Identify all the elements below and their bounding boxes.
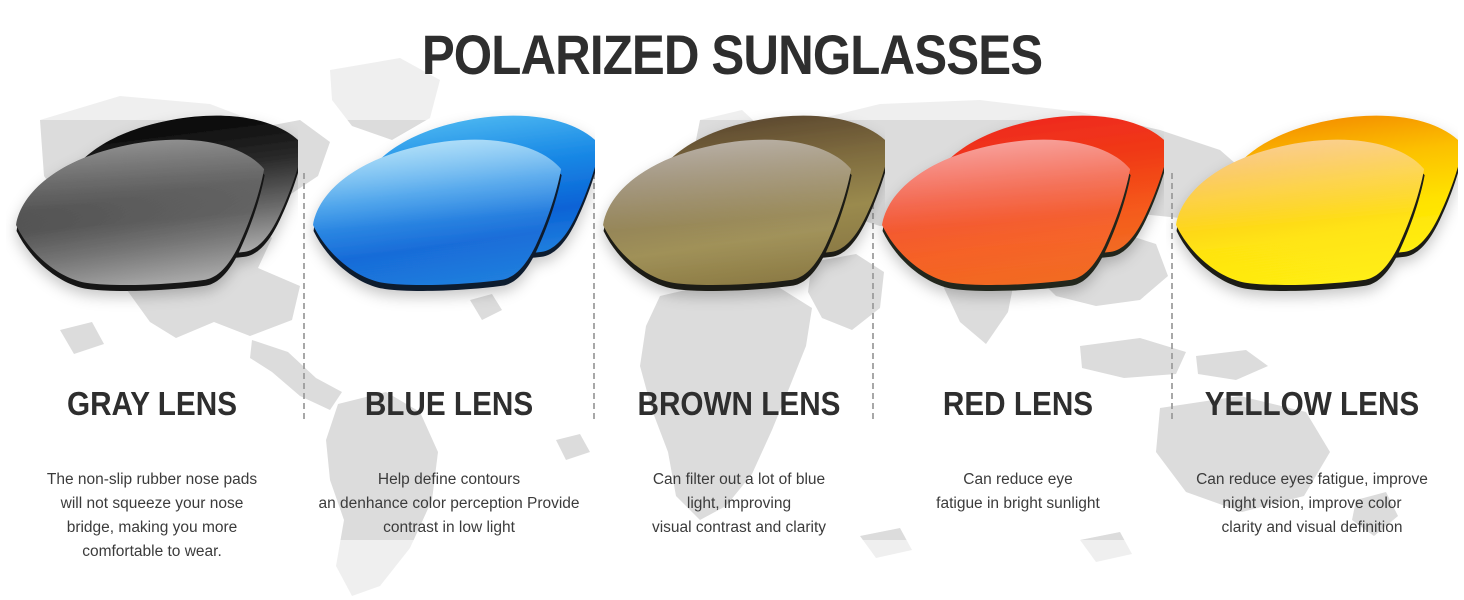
- lens-column-yellow: YELLOW LENS Can reduce eyes fatigue, imp…: [1166, 110, 1458, 590]
- desc-line: Can filter out a lot of blue: [587, 468, 891, 492]
- lens-label-red: RED LENS: [887, 385, 1150, 423]
- desc-line: Help define contours: [297, 468, 601, 492]
- lens-description-red: Can reduce eye fatigue in bright sunligh…: [866, 468, 1170, 516]
- lens-image-red: [872, 110, 1164, 320]
- desc-line: bridge, making you more: [0, 516, 304, 540]
- lens-description-yellow: Can reduce eyes fatigue, improve night v…: [1160, 468, 1464, 540]
- lens-column-brown: BROWN LENS Can filter out a lot of blue …: [593, 110, 885, 590]
- lens-label-blue: BLUE LENS: [318, 385, 581, 423]
- lens-image-gray: [6, 110, 298, 320]
- desc-line: Can reduce eyes fatigue, improve: [1160, 468, 1464, 492]
- desc-line: clarity and visual definition: [1160, 516, 1464, 540]
- desc-line: light, improving: [587, 492, 891, 516]
- lens-label-yellow: YELLOW LENS: [1181, 385, 1444, 423]
- lens-description-gray: The non-slip rubber nose pads will not s…: [0, 468, 304, 564]
- desc-line: The non-slip rubber nose pads: [0, 468, 304, 492]
- lens-image-yellow: [1166, 110, 1458, 320]
- desc-line: will not squeeze your nose: [0, 492, 304, 516]
- desc-line: night vision, improve color: [1160, 492, 1464, 516]
- lens-label-gray: GRAY LENS: [21, 385, 284, 423]
- page-title: POLARIZED SUNGLASSES: [88, 22, 1376, 87]
- lens-image-brown: [593, 110, 885, 320]
- lens-column-blue: BLUE LENS Help define contours an denhan…: [303, 110, 595, 590]
- desc-line: visual contrast and clarity: [587, 516, 891, 540]
- desc-line: Can reduce eye: [866, 468, 1170, 492]
- desc-line: comfortable to wear.: [0, 540, 304, 564]
- lens-label-brown: BROWN LENS: [608, 385, 871, 423]
- infographic-root: POLARIZED SUNGLASSES: [0, 0, 1464, 600]
- lens-column-red: RED LENS Can reduce eye fatigue in brigh…: [872, 110, 1164, 590]
- desc-line: fatigue in bright sunlight: [866, 492, 1170, 516]
- desc-line: an denhance color perception Provide: [297, 492, 601, 516]
- desc-line: contrast in low light: [297, 516, 601, 540]
- lens-description-blue: Help define contours an denhance color p…: [297, 468, 601, 540]
- lens-column-gray: GRAY LENS The non-slip rubber nose pads …: [6, 110, 298, 590]
- lens-description-brown: Can filter out a lot of blue light, impr…: [587, 468, 891, 540]
- lens-image-blue: [303, 110, 595, 320]
